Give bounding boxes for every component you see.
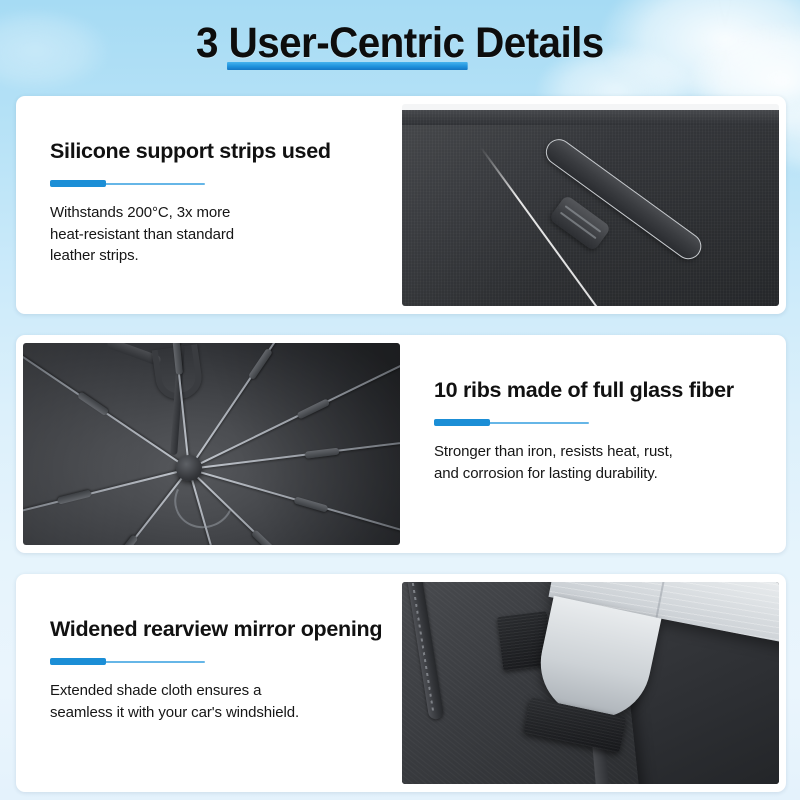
feature-card-text: Widened rearview mirror opening Extended… (16, 574, 402, 792)
page-title-underlined-segment: User-Centric (229, 18, 465, 68)
accent-divider (50, 658, 205, 665)
page-title-suffix: Details (465, 19, 604, 67)
feature-card-heading: 10 ribs made of full glass fiber (434, 377, 764, 403)
feature-card-list: Silicone support strips used Withstands … (16, 96, 786, 792)
divider-thick-bar (50, 180, 106, 187)
feature-card-heading: Silicone support strips used (50, 138, 380, 164)
feature-card-body: Extended shade cloth ensures a seamless … (50, 680, 380, 723)
accent-divider (434, 419, 589, 426)
feature-card: Widened rearview mirror opening Extended… (16, 574, 786, 792)
feature-card-media (402, 96, 786, 314)
feature-card-body: Stronger than iron, resists heat, rust, … (434, 441, 764, 484)
rearview-mirror-opening-velcro-strap-photo (402, 582, 779, 784)
accent-divider (50, 180, 205, 187)
feature-card-heading: Widened rearview mirror opening (50, 616, 380, 642)
feature-card: Silicone support strips used Withstands … (16, 96, 786, 314)
divider-thick-bar (434, 419, 490, 426)
page-title-container: 3 User-Centric Details (0, 18, 800, 68)
feature-card-media (402, 574, 786, 792)
umbrella-ribs-interior-photo (23, 343, 400, 545)
feature-card-media (16, 335, 400, 553)
feature-card-text: Silicone support strips used Withstands … (16, 96, 402, 314)
page-title-prefix: 3 (196, 19, 229, 67)
feature-card-text: 10 ribs made of full glass fiber Stronge… (400, 335, 786, 553)
feature-card-body: Withstands 200°C, 3x more heat-resistant… (50, 202, 380, 267)
feature-card: 10 ribs made of full glass fiber Stronge… (16, 335, 786, 553)
divider-thick-bar (50, 658, 106, 665)
fabric-texture (402, 104, 779, 306)
umbrella-hub (176, 455, 202, 481)
sunshade-corner-silicone-strip-photo (402, 104, 779, 306)
page-title: 3 User-Centric Details (196, 18, 604, 68)
